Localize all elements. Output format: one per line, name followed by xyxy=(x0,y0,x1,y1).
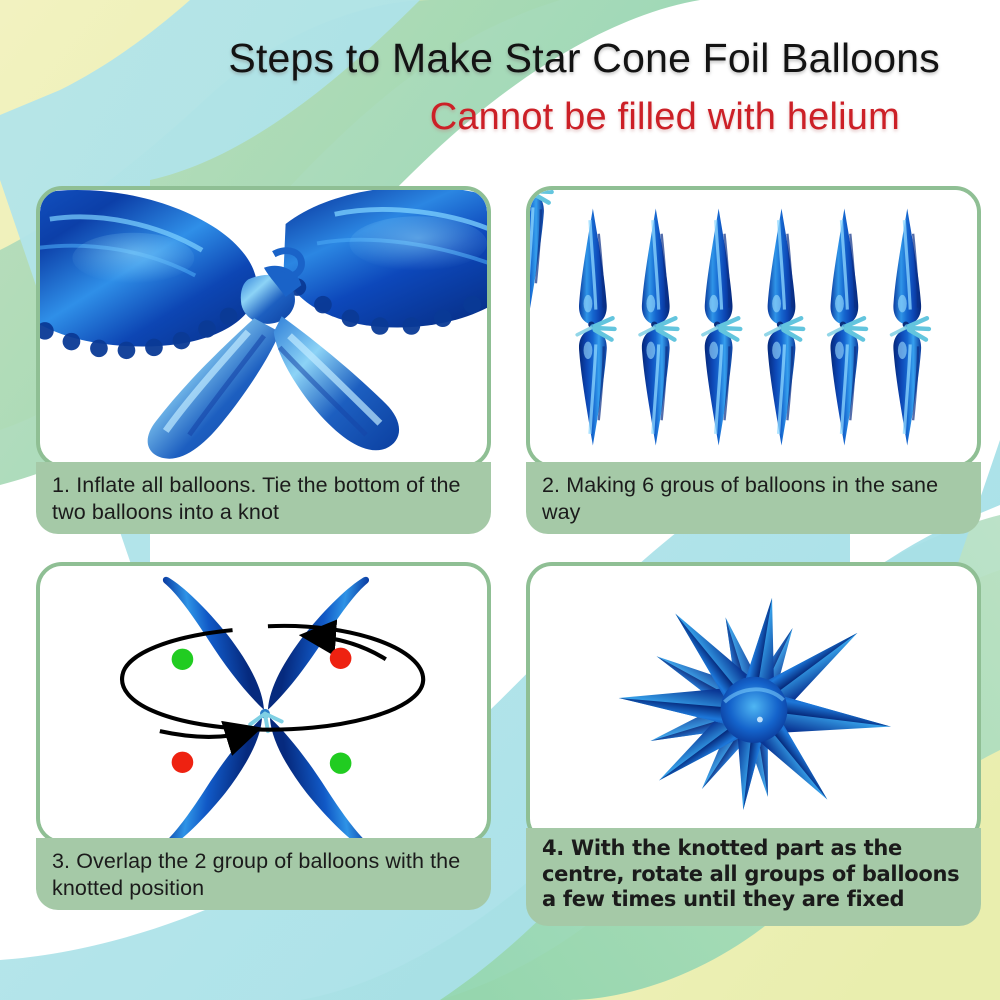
step-2-image-frame xyxy=(526,186,981,468)
step-1-caption: 1. Inflate all balloons. Tie the bottom … xyxy=(36,462,491,534)
knotted-balloons-closeup-photo xyxy=(40,190,487,464)
step-3-image-frame xyxy=(36,562,491,844)
page-root: Steps to Make Star Cone Foil Balloons Ca… xyxy=(0,0,1000,1000)
step-4-image-frame xyxy=(526,562,981,844)
page-title: Steps to Make Star Cone Foil Balloons xyxy=(0,34,940,82)
finished-star-cone-balloon-photo xyxy=(530,566,977,840)
step-1-image-frame xyxy=(36,186,491,468)
marker-red-lower-left xyxy=(172,752,194,773)
marker-red-upper-right xyxy=(330,648,352,669)
marker-green-upper-left xyxy=(172,649,194,670)
step-2-caption: 2. Making 6 grous of balloons in the san… xyxy=(526,462,981,534)
six-balloon-pairs-illustration xyxy=(530,190,977,464)
step-4-caption: 4. With the knotted part as the centre, … xyxy=(526,828,981,926)
step-3-caption: 3. Overlap the 2 group of balloons with … xyxy=(36,838,491,910)
header: Steps to Make Star Cone Foil Balloons Ca… xyxy=(0,0,1000,160)
helium-warning-text: Cannot be filled with helium xyxy=(0,94,900,140)
marker-green-lower-right xyxy=(330,753,352,774)
overlapped-balloon-groups-illustration xyxy=(40,566,487,840)
